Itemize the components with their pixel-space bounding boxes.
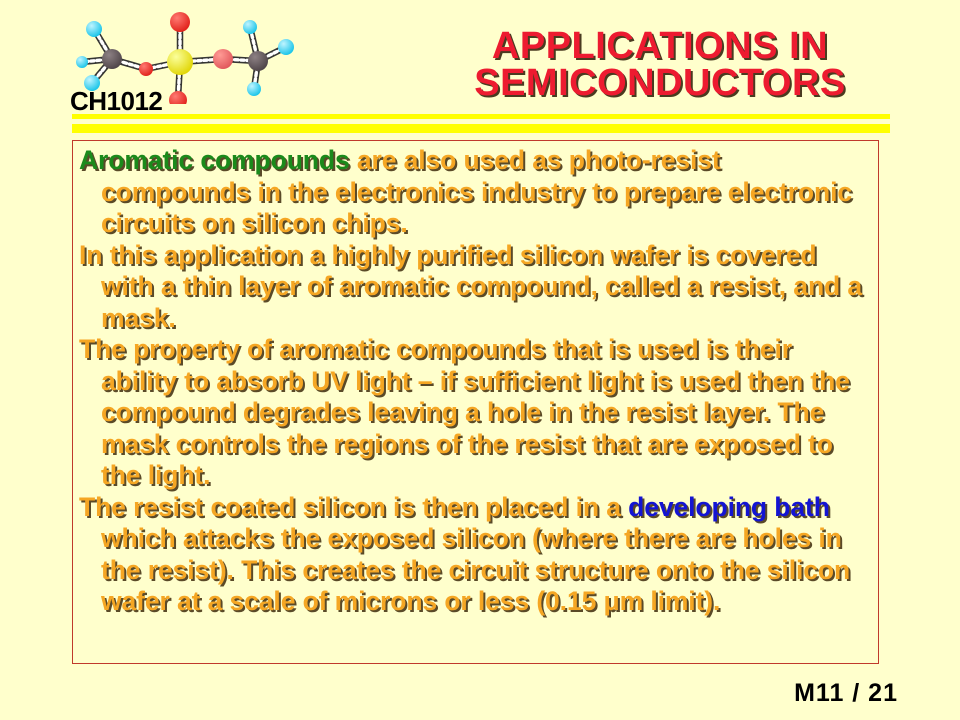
highlight-green-text: Aromatic compounds bbox=[79, 145, 350, 175]
highlight-blue-text: developing bath bbox=[628, 492, 830, 522]
body-text: The property of aromatic compounds that … bbox=[79, 334, 850, 490]
slide-number-footer: M11 / 21 bbox=[794, 679, 898, 708]
divider-rule-bottom bbox=[72, 124, 890, 133]
atom-oxygen bbox=[170, 12, 190, 32]
divider-rule-top bbox=[72, 114, 890, 119]
bullet-uv-absorption: The property of aromatic compounds that … bbox=[79, 334, 872, 492]
atom-oxygen bbox=[169, 91, 187, 104]
title-line-1: APPLICATIONS IN bbox=[430, 28, 890, 65]
atom-sulfur bbox=[167, 49, 193, 75]
atom-carbon bbox=[248, 51, 268, 71]
atom-oxygen bbox=[139, 62, 153, 76]
body-text: which attacks the exposed silicon (where… bbox=[101, 523, 850, 616]
slide-canvas: CH1012 APPLICATIONS IN SEMICONDUCTORS Ar… bbox=[0, 0, 960, 720]
page-title: APPLICATIONS IN SEMICONDUCTORS bbox=[430, 28, 890, 102]
atom-hydrogen bbox=[76, 56, 88, 68]
atom-hydrogen bbox=[243, 20, 257, 34]
content-box: Aromatic compounds are also used as phot… bbox=[72, 140, 879, 664]
atom-carbon bbox=[102, 49, 122, 69]
body-text: In this application a highly purified si… bbox=[79, 240, 862, 333]
body-text: The resist coated silicon is then placed… bbox=[79, 492, 628, 522]
course-code-label: CH1012 bbox=[70, 88, 162, 114]
atom-hydrogen bbox=[247, 82, 261, 96]
bullet-list: Aromatic compounds are also used as phot… bbox=[73, 141, 878, 618]
atom-oxygen bbox=[213, 49, 233, 69]
atom-hydrogen bbox=[278, 39, 294, 55]
bullet-wafer-coating: In this application a highly purified si… bbox=[79, 240, 872, 335]
bullet-developing-bath: The resist coated silicon is then placed… bbox=[79, 492, 872, 618]
bullet-aromatic-photoresist: Aromatic compounds are also used as phot… bbox=[79, 145, 872, 240]
atom-hydrogen bbox=[86, 21, 102, 37]
title-line-2: SEMICONDUCTORS bbox=[430, 65, 890, 102]
